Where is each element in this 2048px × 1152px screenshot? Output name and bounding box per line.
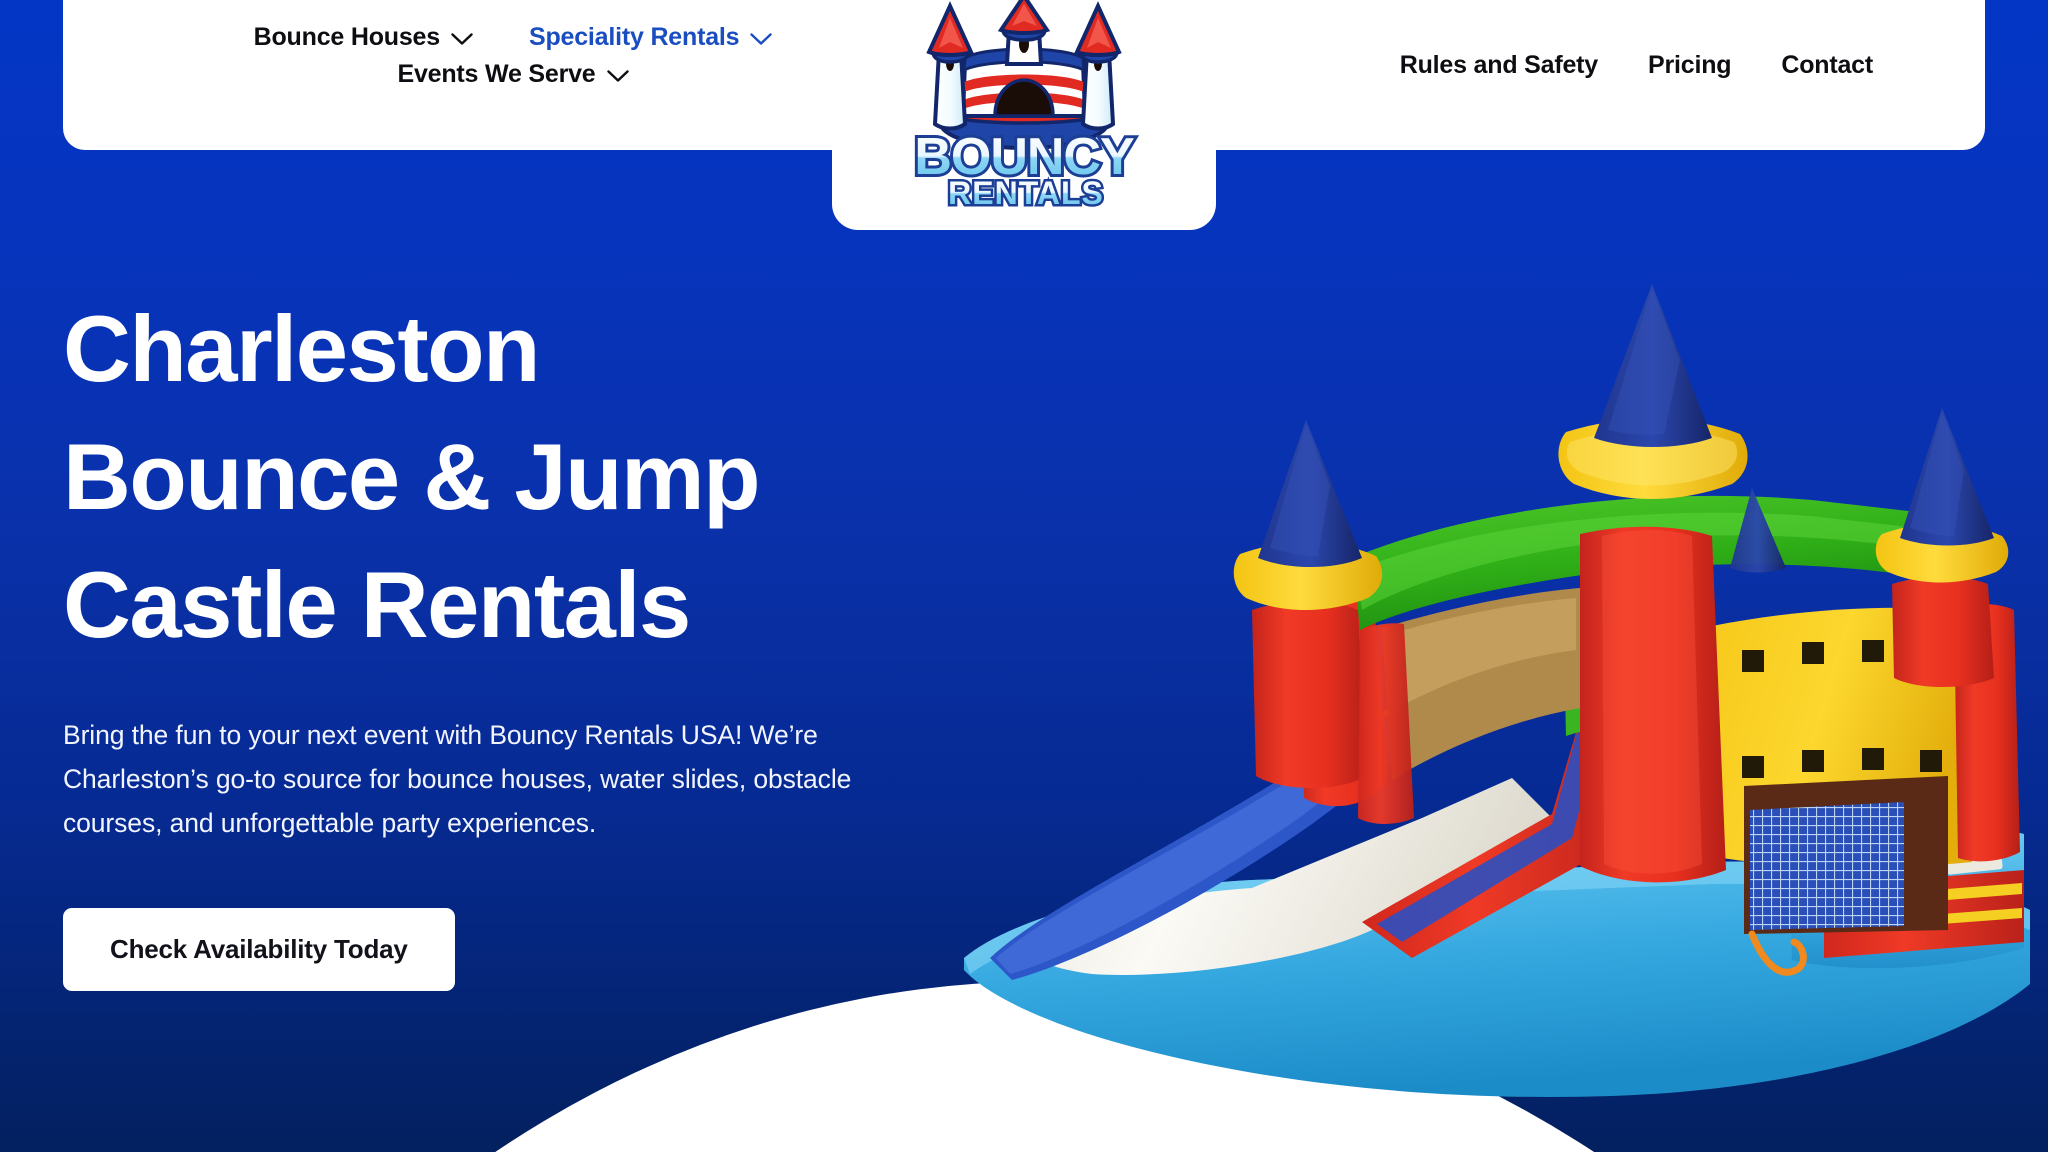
chevron-down-icon bbox=[750, 33, 772, 46]
nav-item-speciality-rentals[interactable]: Speciality Rentals bbox=[529, 22, 772, 53]
chevron-down-icon bbox=[451, 33, 473, 46]
nav-right-group: Rules and Safety Pricing Contact bbox=[1400, 50, 1873, 81]
hero-page: Charleston Bounce & Jump Castle Rentals … bbox=[0, 0, 2048, 1152]
bouncy-castle-logo-icon: BOUNCY RENTALS bbox=[899, 0, 1149, 214]
site-logo-link[interactable]: BOUNCY RENTALS bbox=[832, 0, 1216, 230]
hero-title-line: Bounce & Jump bbox=[63, 413, 993, 541]
nav-item-events-we-serve[interactable]: Events We Serve bbox=[397, 59, 628, 90]
check-availability-button[interactable]: Check Availability Today bbox=[63, 908, 455, 991]
nav-item-label: Speciality Rentals bbox=[529, 22, 739, 53]
page-title: Charleston Bounce & Jump Castle Rentals bbox=[63, 285, 993, 668]
nav-item-rules-and-safety[interactable]: Rules and Safety bbox=[1400, 50, 1598, 81]
hero-title-line: Castle Rentals bbox=[63, 541, 993, 669]
nav-left-group: Bounce Houses Speciality Rentals Events … bbox=[173, 22, 853, 91]
nav-item-label: Bounce Houses bbox=[254, 22, 440, 53]
hero-subtitle: Bring the fun to your next event with Bo… bbox=[63, 714, 933, 846]
nav-item-pricing[interactable]: Pricing bbox=[1648, 50, 1731, 81]
hero-content: Charleston Bounce & Jump Castle Rentals … bbox=[63, 285, 993, 991]
chevron-down-icon bbox=[607, 70, 629, 83]
bounce-house-combo-with-slide-image bbox=[952, 258, 2042, 1118]
nav-item-contact[interactable]: Contact bbox=[1781, 50, 1873, 81]
hero-title-line: Charleston bbox=[63, 285, 993, 413]
nav-item-bounce-houses[interactable]: Bounce Houses bbox=[254, 22, 473, 53]
svg-text:RENTALS: RENTALS bbox=[948, 175, 1104, 211]
nav-item-label: Events We Serve bbox=[397, 59, 595, 90]
